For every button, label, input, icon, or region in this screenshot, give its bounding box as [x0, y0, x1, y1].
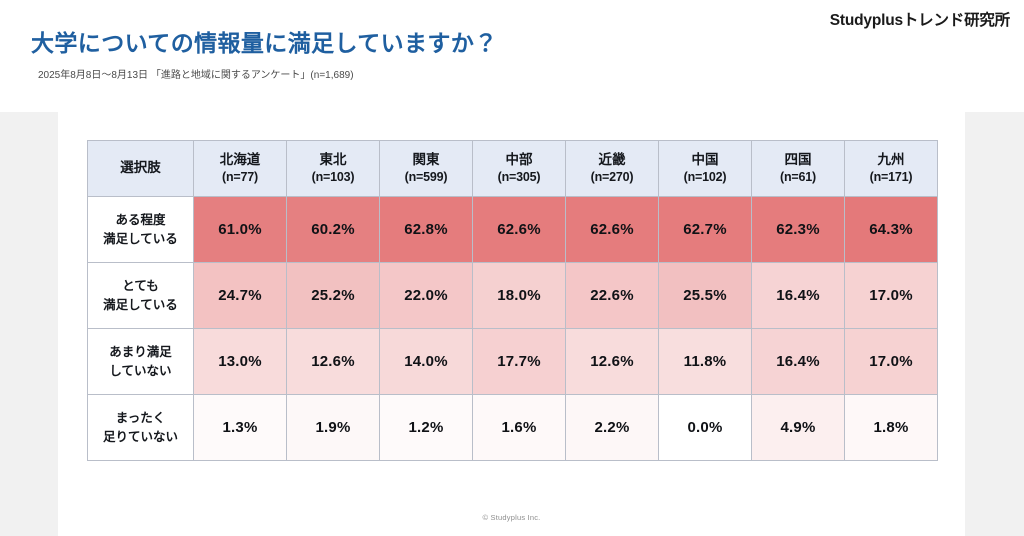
region-sample-size: (n=103) [287, 169, 379, 186]
cell-中国-1: 25.5% [659, 263, 752, 329]
region-sample-size: (n=171) [845, 169, 937, 186]
region-name: 関東 [380, 151, 472, 169]
region-name: 北海道 [194, 151, 286, 169]
row-label-line: 満足している [88, 296, 193, 315]
region-name: 中部 [473, 151, 565, 169]
region-name: 中国 [659, 151, 751, 169]
row-label-2: あまり満足していない [88, 329, 194, 395]
table-row: ある程度満足している61.0%60.2%62.8%62.6%62.6%62.7%… [88, 197, 938, 263]
survey-subtitle: 2025年8月8日〜8月13日 「進路と地域に関するアンケート」(n=1,689… [38, 66, 354, 81]
column-header-中国: 中国(n=102) [659, 141, 752, 197]
cell-四国-1: 16.4% [752, 263, 845, 329]
cell-九州-3: 1.8% [845, 395, 938, 461]
page-title: 大学についての情報量に満足していますか？ [31, 24, 498, 58]
row-label-line: 満足している [88, 230, 193, 249]
cell-近畿-2: 12.6% [566, 329, 659, 395]
cell-東北-2: 12.6% [287, 329, 380, 395]
cell-北海道-2: 13.0% [194, 329, 287, 395]
region-sample-size: (n=305) [473, 169, 565, 186]
cell-中国-2: 11.8% [659, 329, 752, 395]
column-header-choices: 選択肢 [88, 141, 194, 197]
table-row: とても満足している24.7%25.2%22.0%18.0%22.6%25.5%1… [88, 263, 938, 329]
cell-四国-3: 4.9% [752, 395, 845, 461]
region-sample-size: (n=77) [194, 169, 286, 186]
row-label-line: あまり満足 [88, 343, 193, 362]
row-label-3: まったく足りていない [88, 395, 194, 461]
region-name: 四国 [752, 151, 844, 169]
cell-近畿-3: 2.2% [566, 395, 659, 461]
cell-東北-3: 1.9% [287, 395, 380, 461]
row-label-line: まったく [88, 409, 193, 428]
region-sample-size: (n=270) [566, 169, 658, 186]
cell-中部-3: 1.6% [473, 395, 566, 461]
table-row: まったく足りていない1.3%1.9%1.2%1.6%2.2%0.0%4.9%1.… [88, 395, 938, 461]
table-body: ある程度満足している61.0%60.2%62.8%62.6%62.6%62.7%… [88, 197, 938, 461]
column-header-北海道: 北海道(n=77) [194, 141, 287, 197]
cell-北海道-0: 61.0% [194, 197, 287, 263]
header-band: Studyplusトレンド研究所 大学についての情報量に満足していますか？ 20… [0, 0, 1024, 112]
region-sample-size: (n=599) [380, 169, 472, 186]
column-header-九州: 九州(n=171) [845, 141, 938, 197]
cell-中部-2: 17.7% [473, 329, 566, 395]
row-label-line: とても [88, 277, 193, 296]
cell-中部-1: 18.0% [473, 263, 566, 329]
column-header-東北: 東北(n=103) [287, 141, 380, 197]
table-header-row: 選択肢北海道(n=77)東北(n=103)関東(n=599)中部(n=305)近… [88, 141, 938, 197]
cell-北海道-1: 24.7% [194, 263, 287, 329]
cell-関東-0: 62.8% [380, 197, 473, 263]
region-sample-size: (n=61) [752, 169, 844, 186]
cell-中国-0: 62.7% [659, 197, 752, 263]
brand-logo-text: Studyplusトレンド研究所 [830, 8, 1010, 30]
row-label-0: ある程度満足している [88, 197, 194, 263]
cell-九州-1: 17.0% [845, 263, 938, 329]
cell-近畿-0: 62.6% [566, 197, 659, 263]
region-name: 九州 [845, 151, 937, 169]
content-card: 選択肢北海道(n=77)東北(n=103)関東(n=599)中部(n=305)近… [58, 112, 965, 536]
table-row: あまり満足していない13.0%12.6%14.0%17.7%12.6%11.8%… [88, 329, 938, 395]
region-sample-size: (n=102) [659, 169, 751, 186]
region-name: 近畿 [566, 151, 658, 169]
cell-九州-0: 64.3% [845, 197, 938, 263]
column-header-関東: 関東(n=599) [380, 141, 473, 197]
row-label-line: 足りていない [88, 428, 193, 447]
cell-東北-0: 60.2% [287, 197, 380, 263]
cell-四国-0: 62.3% [752, 197, 845, 263]
survey-table-container: 選択肢北海道(n=77)東北(n=103)関東(n=599)中部(n=305)近… [87, 140, 937, 461]
column-header-四国: 四国(n=61) [752, 141, 845, 197]
copyright-notice: © Studyplus Inc. [58, 513, 965, 522]
cell-四国-2: 16.4% [752, 329, 845, 395]
cell-中部-0: 62.6% [473, 197, 566, 263]
table-head: 選択肢北海道(n=77)東北(n=103)関東(n=599)中部(n=305)近… [88, 141, 938, 197]
cell-関東-1: 22.0% [380, 263, 473, 329]
row-label-1: とても満足している [88, 263, 194, 329]
region-name: 東北 [287, 151, 379, 169]
survey-results-table: 選択肢北海道(n=77)東北(n=103)関東(n=599)中部(n=305)近… [87, 140, 938, 461]
column-header-近畿: 近畿(n=270) [566, 141, 659, 197]
cell-近畿-1: 22.6% [566, 263, 659, 329]
cell-中国-3: 0.0% [659, 395, 752, 461]
column-header-中部: 中部(n=305) [473, 141, 566, 197]
cell-関東-3: 1.2% [380, 395, 473, 461]
row-label-line: していない [88, 362, 193, 381]
cell-九州-2: 17.0% [845, 329, 938, 395]
cell-関東-2: 14.0% [380, 329, 473, 395]
row-label-line: ある程度 [88, 211, 193, 230]
cell-東北-1: 25.2% [287, 263, 380, 329]
cell-北海道-3: 1.3% [194, 395, 287, 461]
